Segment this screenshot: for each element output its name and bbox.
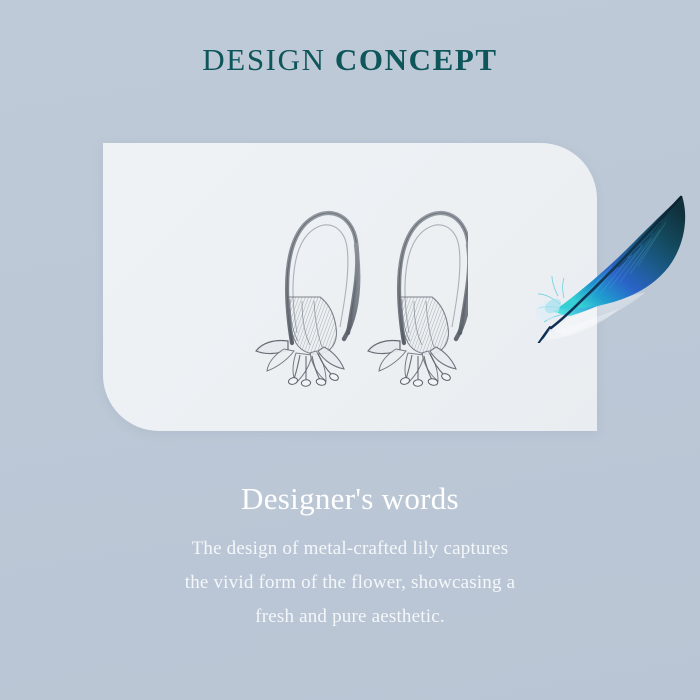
earring-left (256, 213, 358, 387)
page-background: DESIGN CONCEPT (0, 0, 700, 700)
title-word-concept: CONCEPT (335, 42, 498, 77)
designer-words-line-2: the vivid form of the flower, showcasing… (0, 573, 700, 592)
designer-words-section: Designer's words The design of metal-cra… (0, 480, 700, 626)
page-title: DESIGN CONCEPT (0, 44, 700, 75)
designer-words-line-3: fresh and pure aesthetic. (0, 607, 700, 626)
lily-earrings-sketch-icon (238, 193, 468, 393)
concept-card-inner: Grace (103, 143, 597, 431)
concept-card: Grace (103, 143, 597, 431)
designer-words-heading: Designer's words (0, 480, 700, 517)
earring-right (368, 213, 468, 387)
title-word-design: DESIGN (202, 42, 335, 77)
designer-words-line-1: The design of metal-crafted lily capture… (0, 539, 700, 558)
title-text: DESIGN CONCEPT (202, 44, 497, 75)
